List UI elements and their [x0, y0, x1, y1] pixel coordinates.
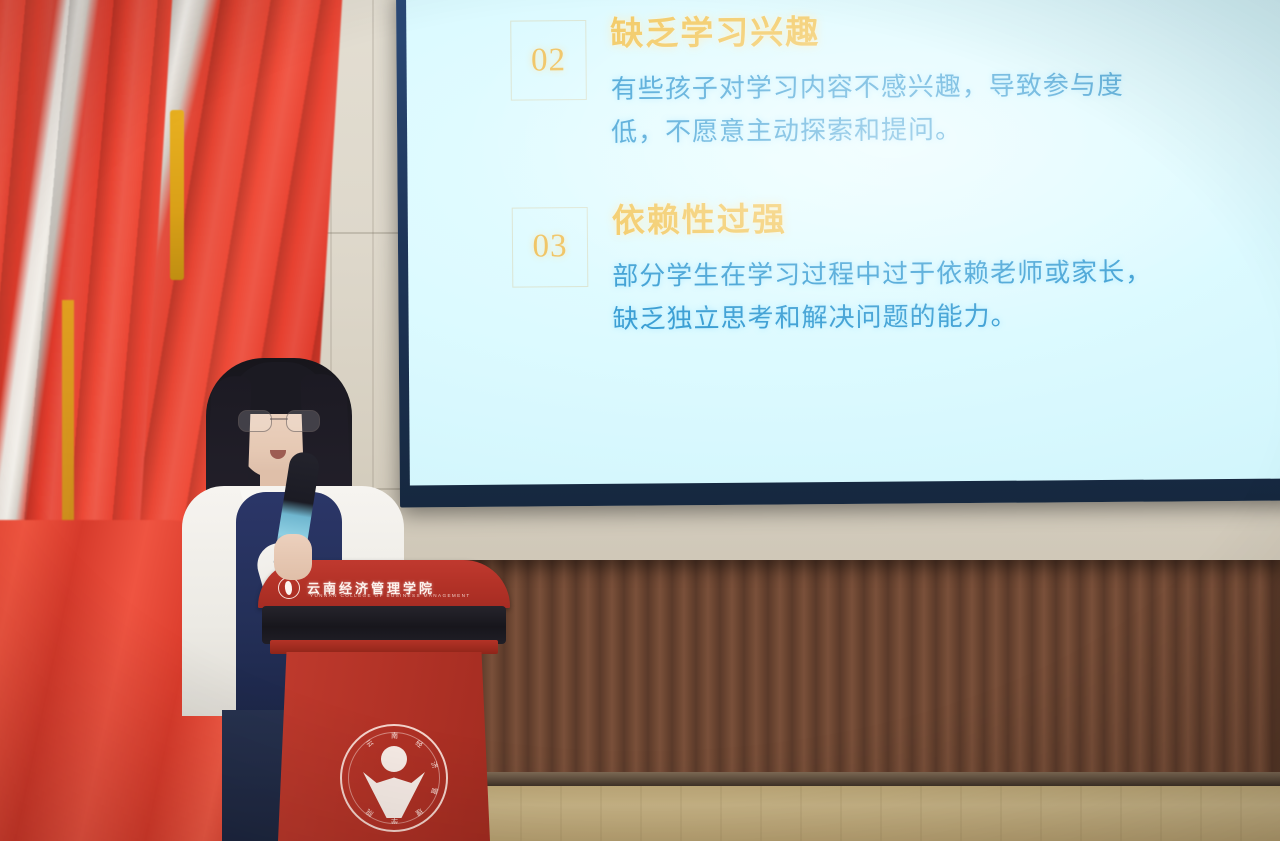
glasses-lens	[238, 410, 272, 432]
slide-item-title: 缺乏学习兴趣	[610, 11, 1257, 52]
emblem-ring-char: 院	[364, 806, 375, 818]
slide-item: 03 依赖性过强 部分学生在学习过程中过于依赖老师或家长， 缺乏独立思考和解决问…	[512, 195, 1260, 341]
slide-item-description-line: 低，不愿意主动探索和提问。	[611, 106, 1258, 154]
glasses-lens	[286, 410, 320, 432]
slide-item-number: 02	[531, 42, 566, 79]
flag-pole-gold-tip	[170, 110, 184, 280]
emblem-figure-head	[381, 746, 407, 772]
emblem-ring-char: 经	[413, 738, 425, 750]
emblem-ring-char: 济	[428, 760, 440, 770]
emblem-ring-char: 理	[413, 806, 425, 818]
projection-screen-surface: 02 缺乏学习兴趣 有些孩子对学习内容不感兴趣，导致参与度 低，不愿意主动探索和…	[406, 0, 1280, 485]
slide-item: 02 缺乏学习兴趣 有些孩子对学习内容不感兴趣，导致参与度 低，不愿意主动探索和…	[510, 9, 1258, 155]
slide-item-text: 依赖性过强 部分学生在学习过程中过于依赖老师或家长， 缺乏独立思考和解决问题的能…	[612, 195, 1260, 341]
emblem-ring-char: 南	[391, 731, 398, 741]
emblem-ring-char: 云	[364, 737, 375, 749]
podium-dark-band	[262, 606, 506, 644]
speaker-hand	[274, 534, 312, 580]
podium-front-panel: 云南经济管理学院	[278, 652, 490, 841]
slide-content: 02 缺乏学习兴趣 有些孩子对学习内容不感兴趣，导致参与度 低，不愿意主动探索和…	[406, 0, 1280, 485]
slide-item-number: 03	[532, 228, 567, 265]
slide-item-text: 缺乏学习兴趣 有些孩子对学习内容不感兴趣，导致参与度 低，不愿意主动探索和提问。	[610, 9, 1258, 155]
emblem-ring-char: 管	[428, 786, 440, 796]
slide-item-number-box: 03	[512, 207, 589, 288]
podium-lower-band	[270, 640, 498, 654]
slide-item-description-line: 部分学生在学习过程中过于依赖老师或家长，	[612, 250, 1259, 298]
university-logo-icon	[278, 577, 300, 599]
slide-item-title: 依赖性过强	[612, 197, 1259, 238]
presentation-scene-photo: 02 缺乏学习兴趣 有些孩子对学习内容不感兴趣，导致参与度 低，不愿意主动探索和…	[0, 0, 1280, 841]
flag-pole	[62, 300, 74, 540]
speaker-glasses	[238, 410, 320, 430]
projection-screen-bezel: 02 缺乏学习兴趣 有些孩子对学习内容不感兴趣，导致参与度 低，不愿意主动探索和…	[396, 0, 1280, 508]
slide-item-description-line: 缺乏独立思考和解决问题的能力。	[612, 293, 1259, 341]
podium-institution-name-english: YUNNAN COLLEGE OF BUSINESS MANAGEMENT	[310, 593, 471, 598]
lectern-podium: 云南经济管理学院 YUNNAN COLLEGE OF BUSINESS MANA…	[248, 560, 518, 841]
university-emblem-icon: 云南经济管理学院	[340, 724, 448, 832]
slide-item-number-box: 02	[510, 20, 587, 101]
slide-item-description-line: 有些孩子对学习内容不感兴趣，导致参与度	[611, 63, 1258, 111]
